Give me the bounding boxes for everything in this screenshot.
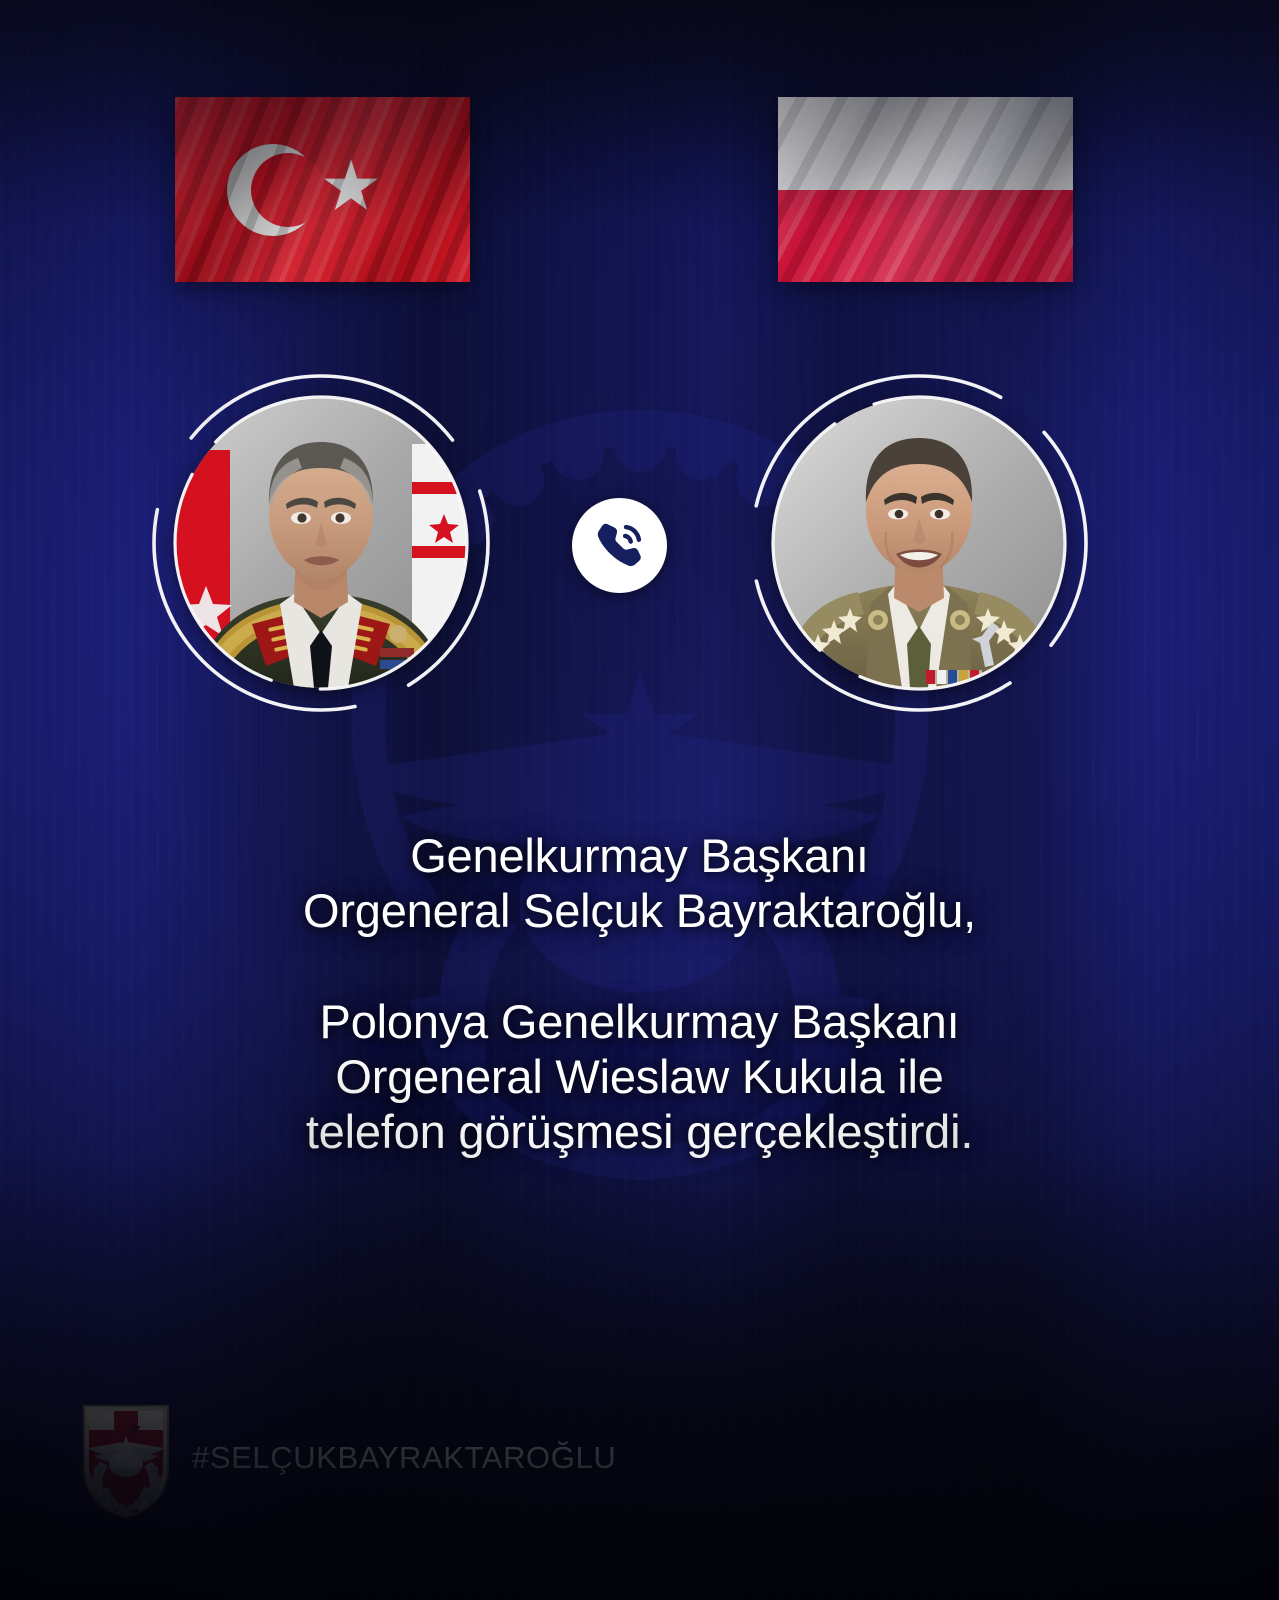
background-vignette: [0, 0, 1279, 1600]
poster-canvas: Genelkurmay Başkanı Orgeneral Selçuk Bay…: [0, 0, 1279, 1600]
